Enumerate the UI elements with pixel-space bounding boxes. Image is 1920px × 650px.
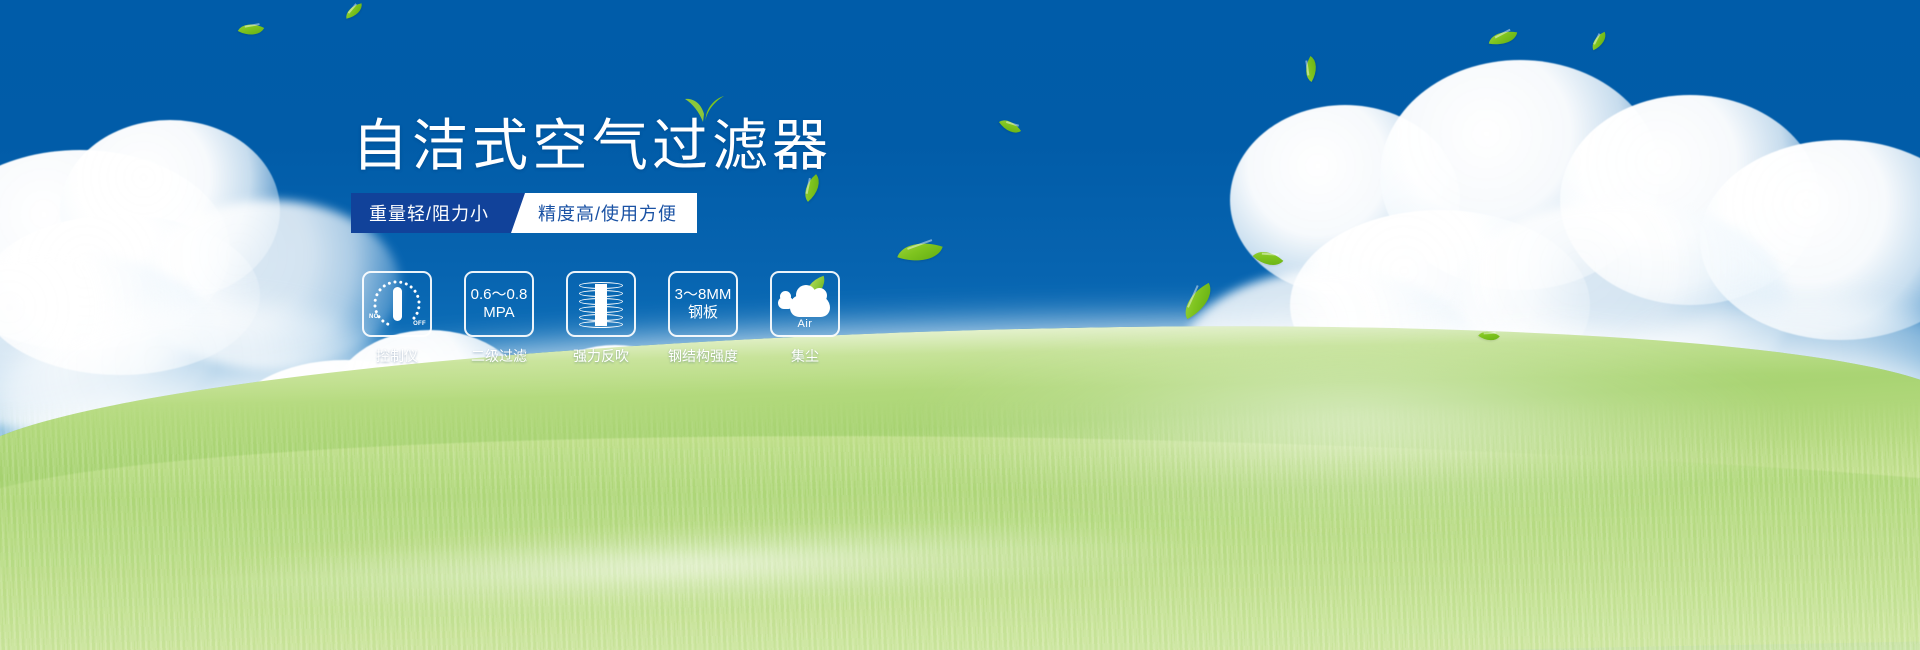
- feature-list: NO OFF 控制仪 0.6〜0.8 MPA 二级过滤: [357, 271, 845, 366]
- feature-caption: 二级过滤: [471, 346, 527, 366]
- steel-value-line2: 钢板: [688, 304, 718, 322]
- feature-box-pressure: 0.6〜0.8 MPA: [464, 271, 534, 337]
- tag-bar: 重量轻/阻力小 精度高/使用方便: [351, 193, 697, 233]
- feature-caption: 强力反吹: [573, 346, 629, 366]
- steel-value-line1: 3〜8MM: [675, 286, 732, 304]
- feature-item-backblow[interactable]: 强力反吹: [561, 271, 641, 366]
- feature-item-dust[interactable]: Air 集尘: [765, 271, 845, 366]
- feature-item-steel[interactable]: 3〜8MM 钢板 钢结构强度: [663, 271, 743, 366]
- feature-box-steel: 3〜8MM 钢板: [668, 271, 738, 337]
- pressure-value-line1: 0.6〜0.8: [471, 286, 528, 304]
- feature-box-backblow: [566, 271, 636, 337]
- feature-box-dust: Air: [770, 271, 840, 337]
- tag-precision-convenience[interactable]: 精度高/使用方便: [510, 193, 697, 233]
- feature-caption: 钢结构强度: [668, 346, 738, 366]
- feature-caption: 集尘: [791, 346, 819, 366]
- tag-weight-resistance[interactable]: 重量轻/阻力小: [351, 193, 511, 233]
- page-title: 自洁式空气过滤器: [352, 118, 832, 174]
- air-label: Air: [778, 318, 832, 330]
- cloud-main-icon: [790, 295, 830, 317]
- air-cloud-icon: Air: [778, 283, 832, 325]
- gauge-needle-icon: [393, 287, 402, 321]
- filter-cartridge-icon: [578, 281, 624, 327]
- feature-caption: 控制仪: [376, 346, 418, 366]
- feature-item-pressure[interactable]: 0.6〜0.8 MPA 二级过滤: [459, 271, 539, 366]
- feature-item-controller[interactable]: NO OFF 控制仪: [357, 271, 437, 366]
- gauge-icon: NO OFF: [370, 279, 424, 329]
- gauge-label-no: NO: [369, 314, 379, 320]
- feature-box-controller: NO OFF: [362, 271, 432, 337]
- gauge-label-off: OFF: [413, 321, 426, 327]
- product-banner: 自洁式空气过滤器 重量轻/阻力小 精度高/使用方便: [0, 0, 1920, 650]
- leaf-sprig-icon: [683, 92, 725, 122]
- banner-content: 自洁式空气过滤器 重量轻/阻力小 精度高/使用方便: [0, 0, 1920, 650]
- pressure-value-line2: MPA: [483, 304, 514, 322]
